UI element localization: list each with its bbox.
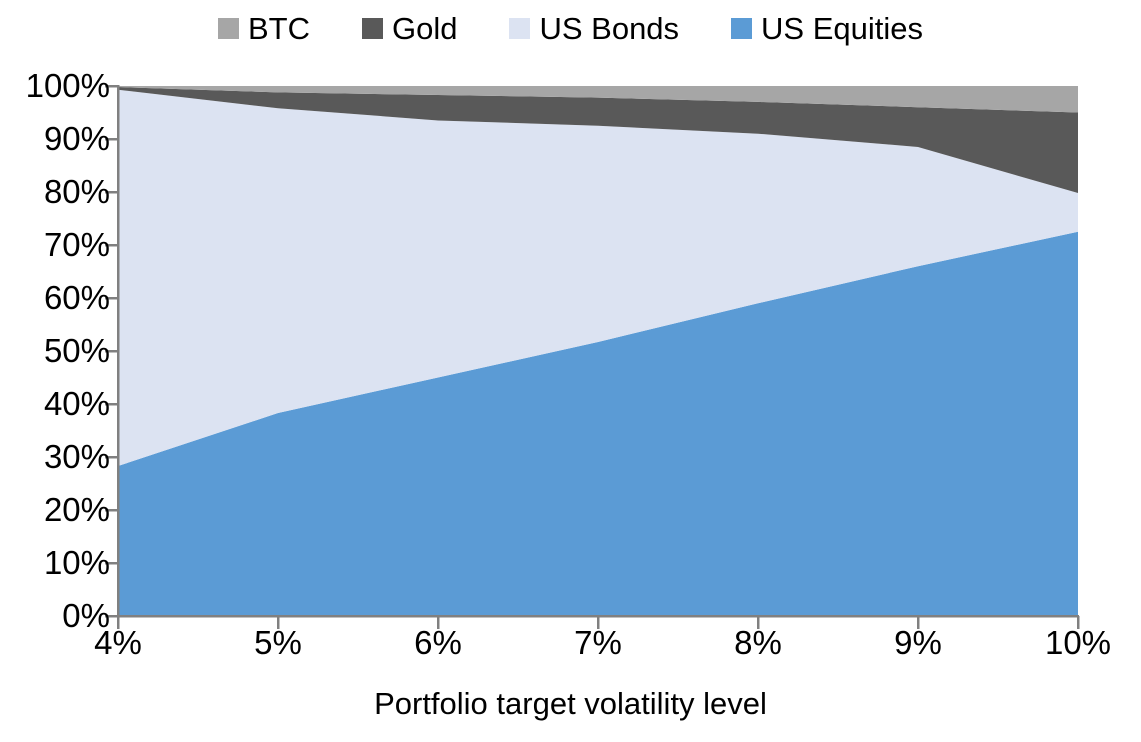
- y-tick-label: 40%: [2, 387, 110, 420]
- x-tick-label: 5%: [254, 626, 302, 659]
- x-tick-label: 9%: [894, 626, 942, 659]
- y-tick-label: 80%: [2, 175, 110, 208]
- y-tick-label: 50%: [2, 334, 110, 367]
- x-axis-tick-labels: 4%5%6%7%8%9%10%: [0, 626, 1141, 674]
- y-tick-label: 90%: [2, 122, 110, 155]
- y-tick-label: 10%: [2, 546, 110, 579]
- y-tick-label: 60%: [2, 281, 110, 314]
- x-tick-label: 4%: [94, 626, 142, 659]
- y-tick-label: 70%: [2, 228, 110, 261]
- x-tick-label: 6%: [414, 626, 462, 659]
- x-tick-label: 8%: [734, 626, 782, 659]
- stacked-area-chart: BTC Gold US Bonds US Equities 0%10%20%30…: [0, 0, 1141, 742]
- y-tick-label: 100%: [2, 69, 110, 102]
- x-axis-title: Portfolio target volatility level: [0, 688, 1141, 719]
- y-tick-label: 20%: [2, 493, 110, 526]
- x-tick-label: 10%: [1045, 626, 1111, 659]
- y-tick-label: 30%: [2, 440, 110, 473]
- x-tick-label: 7%: [574, 626, 622, 659]
